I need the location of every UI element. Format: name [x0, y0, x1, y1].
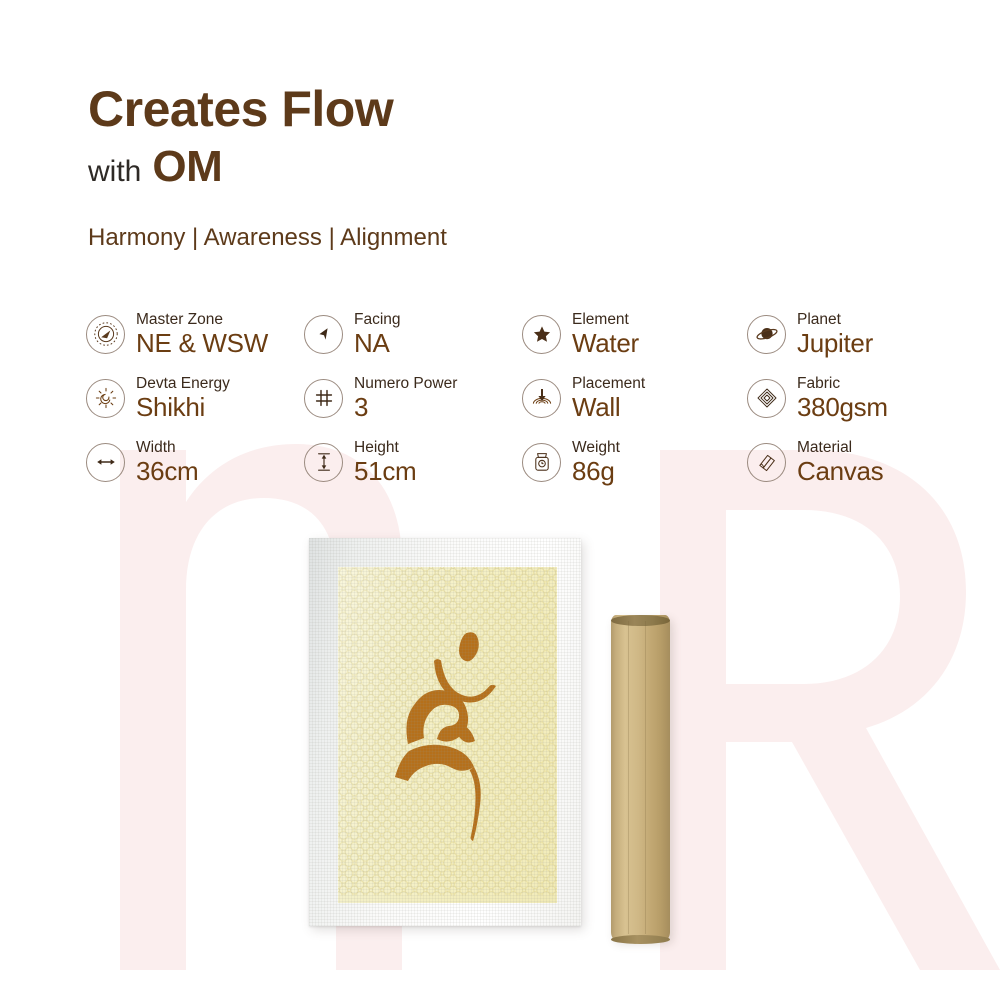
planet-icon	[747, 315, 786, 354]
spec-weight: Weight 86g	[522, 430, 747, 494]
spec-fabric: Fabric 380gsm	[747, 366, 966, 430]
tagline: Harmony | Awareness | Alignment	[88, 224, 447, 252]
subtitle-with-word: with	[88, 155, 141, 189]
grid-hash-icon	[304, 379, 343, 418]
spec-value: 380gsm	[797, 394, 888, 420]
spec-label: Fabric	[797, 376, 888, 392]
om-symbol	[373, 615, 523, 855]
spec-grid: Master Zone NE & WSW Facing NA	[86, 302, 966, 494]
spec-label: Width	[136, 440, 198, 456]
spec-value: Wall	[572, 394, 645, 420]
spec-facing: Facing NA	[304, 302, 522, 366]
subtitle-subject: OM	[152, 142, 222, 192]
spec-label: Weight	[572, 440, 620, 456]
tube-seam	[645, 621, 646, 934]
spec-value: 3	[354, 394, 457, 420]
spec-label: Placement	[572, 376, 645, 392]
poster-artwork	[338, 567, 557, 903]
spec-label: Numero Power	[354, 376, 457, 392]
om-canvas-poster	[309, 538, 581, 926]
spec-width: Width 36cm	[86, 430, 304, 494]
kraft-mailing-tube	[611, 615, 670, 940]
spec-label: Master Zone	[136, 312, 268, 328]
spec-value: Water	[572, 330, 639, 356]
spec-label: Devta Energy	[136, 376, 230, 392]
fabric-swatch-icon	[747, 443, 786, 482]
product-infographic: Creates Flow with OM Harmony | Awareness…	[0, 0, 1000, 1000]
page-title: Creates Flow	[88, 82, 447, 136]
spec-devta-energy: Devta Energy Shikhi	[86, 366, 304, 430]
spec-material: Material Canvas	[747, 430, 966, 494]
subtitle-row: with OM	[88, 142, 447, 192]
spec-label: Material	[797, 440, 883, 456]
spec-master-zone: Master Zone NE & WSW	[86, 302, 304, 366]
spec-label: Element	[572, 312, 639, 328]
header-block: Creates Flow with OM Harmony | Awareness…	[88, 82, 447, 252]
target-arrow-icon	[522, 379, 561, 418]
spec-label: Facing	[354, 312, 401, 328]
spec-value: 86g	[572, 458, 620, 484]
weighing-scale-icon	[522, 443, 561, 482]
spec-placement: Placement Wall	[522, 366, 747, 430]
spec-label: Height	[354, 440, 416, 456]
cursor-arrow-icon	[304, 315, 343, 354]
width-arrows-icon	[86, 443, 125, 482]
spec-height: Height 51cm	[304, 430, 522, 494]
spec-value: Shikhi	[136, 394, 230, 420]
spec-numero-power: Numero Power 3	[304, 366, 522, 430]
product-photo-group	[0, 520, 1000, 960]
woven-fabric-icon	[747, 379, 786, 418]
compass-icon	[86, 315, 125, 354]
spec-value: NE & WSW	[136, 330, 268, 356]
spec-value: Canvas	[797, 458, 883, 484]
star-icon	[522, 315, 561, 354]
spec-element: Element Water	[522, 302, 747, 366]
tube-seam	[628, 621, 629, 934]
height-arrows-icon	[304, 443, 343, 482]
spec-value: 51cm	[354, 458, 416, 484]
spec-label: Planet	[797, 312, 873, 328]
spec-value: NA	[354, 330, 401, 356]
sun-spiral-icon	[86, 379, 125, 418]
spec-value: Jupiter	[797, 330, 873, 356]
spec-value: 36cm	[136, 458, 198, 484]
spec-planet: Planet Jupiter	[747, 302, 966, 366]
